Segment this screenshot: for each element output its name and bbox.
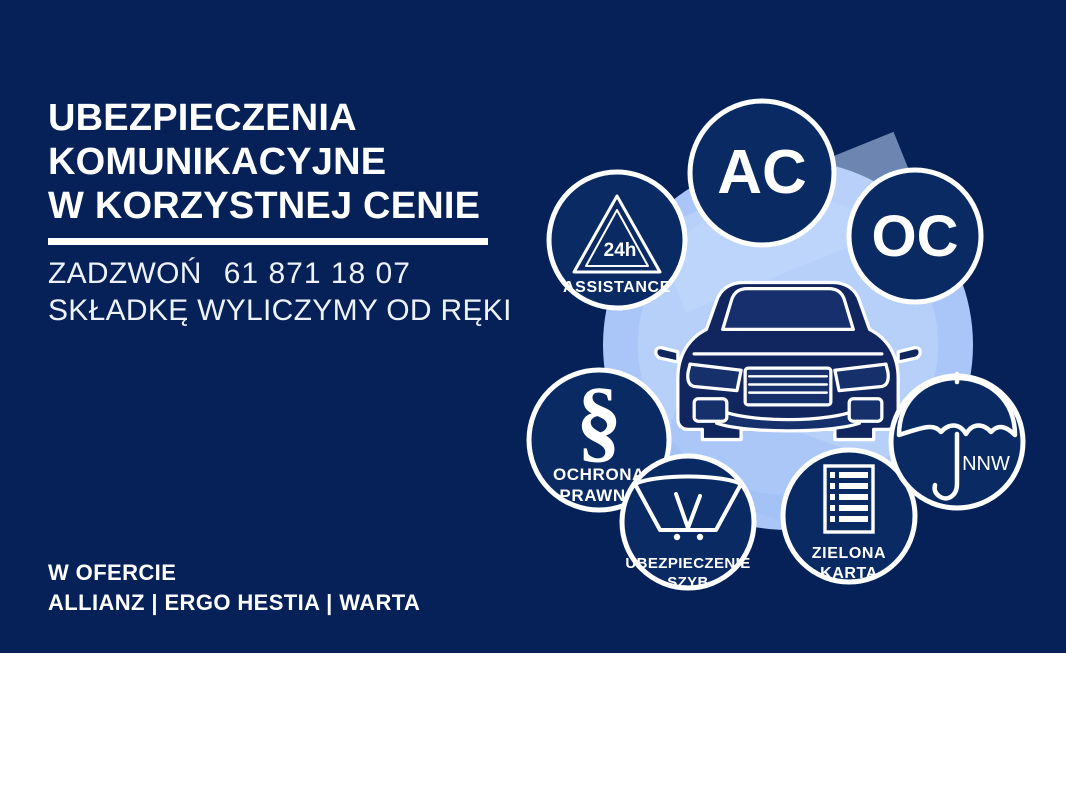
tagline: SKŁADKĘ WYLICZYMY OD RĘKI: [48, 292, 528, 329]
badge-nnw-text: NNW: [962, 453, 1010, 475]
badge-nnw[interactable]: NNW: [891, 374, 1023, 508]
badge-oc-text: OC: [872, 204, 959, 269]
poster-root: UBEZPIECZENIA KOMUNIKACYJNE W KORZYSTNEJ…: [0, 0, 1066, 799]
insurance-wheel-graphic: AC OC 24h ASSISTANCE: [510, 60, 1066, 630]
badge-szyb-label-1: UBEZPIECZENIE: [625, 555, 750, 572]
badge-assistance[interactable]: 24h ASSISTANCE: [549, 172, 685, 308]
offer-partners: ALLIANZ | ERGO HESTIA | WARTA: [48, 588, 508, 618]
phone-number[interactable]: 61 871 18 07: [224, 257, 411, 290]
page-title: UBEZPIECZENIA KOMUNIKACYJNE W KORZYSTNEJ…: [48, 96, 518, 228]
badge-oc[interactable]: OC: [849, 170, 981, 302]
headline-line-1: UBEZPIECZENIA: [48, 96, 518, 140]
badge-zielona-karta-label-1: ZIELONA: [812, 545, 886, 562]
badge-assistance-icon-text: 24h: [604, 240, 637, 261]
contact-block: ZADZWOŃ61 871 18 07 SKŁADKĘ WYLICZYMY OD…: [48, 255, 528, 329]
badge-szyb-label-2: SZYB: [667, 574, 709, 591]
badge-ubezpieczenie-szyb[interactable]: UBEZPIECZENIE SZYB: [622, 456, 754, 591]
badge-ac-text: AC: [717, 138, 807, 207]
badge-ochrona-prawna-label-1: OCHRONA: [553, 465, 645, 484]
footer-band: Rzepecki Mroczkowski: [0, 653, 1066, 799]
call-to-action-line: ZADZWOŃ61 871 18 07: [48, 255, 528, 292]
offer-block: W OFERCIE ALLIANZ | ERGO HESTIA | WARTA: [48, 558, 508, 618]
title-divider: [48, 238, 488, 245]
offer-heading: W OFERCIE: [48, 558, 508, 588]
headline-line-3: W KORZYSTNEJ CENIE: [48, 184, 518, 228]
badge-ac[interactable]: AC: [690, 101, 834, 245]
call-label: ZADZWOŃ: [48, 257, 202, 290]
navy-panel: UBEZPIECZENIA KOMUNIKACYJNE W KORZYSTNEJ…: [0, 0, 1066, 653]
headline-line-2: KOMUNIKACYJNE: [48, 140, 518, 184]
badge-assistance-label: ASSISTANCE: [563, 279, 671, 296]
section-sign-icon: §: [576, 369, 622, 471]
badge-zielona-karta-label-2: KARTA: [820, 565, 878, 582]
